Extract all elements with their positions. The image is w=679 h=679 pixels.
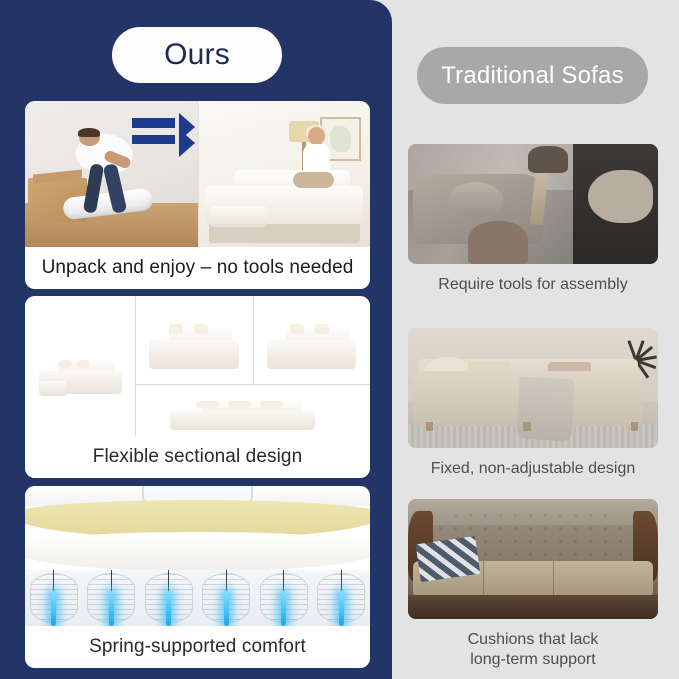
grid-divider-vertical xyxy=(253,296,254,384)
arrow-right-icon xyxy=(132,118,175,128)
supporting-hand xyxy=(468,221,528,264)
ours-card-spring: Spring-supported comfort xyxy=(25,486,370,668)
sofa-pillow xyxy=(77,360,90,368)
spring-coil xyxy=(313,570,371,626)
old-sofa-illustration xyxy=(408,499,658,619)
man-hair xyxy=(78,128,99,137)
sofa-leg xyxy=(426,422,434,432)
spring-glow-icon xyxy=(339,591,344,626)
ours-caption-flexible: Flexible sectional design xyxy=(25,436,370,478)
woman-legs xyxy=(293,172,334,187)
traditional-item-cushions: Cushions that lack long-term support xyxy=(408,499,658,670)
comparison-infographic: Ours xyxy=(0,0,679,679)
fixed-sofa-image xyxy=(408,328,658,448)
caption-line-2: long-term support xyxy=(470,651,595,668)
traditional-caption-assembly: Require tools for assembly xyxy=(408,275,658,295)
sofa-base xyxy=(149,340,239,368)
spring-coil xyxy=(198,570,256,626)
living-room-scene xyxy=(198,101,371,247)
spring-glow-icon xyxy=(109,591,114,626)
configuration-grid xyxy=(25,296,370,436)
fixed-sofa-illustration xyxy=(408,328,658,448)
old-sofa-image xyxy=(408,499,658,619)
spring-coil xyxy=(83,570,141,626)
sofa-base xyxy=(170,411,315,430)
sofa-pillow xyxy=(228,401,251,408)
sofa-leg xyxy=(523,422,531,432)
unpack-and-enjoy-image xyxy=(25,101,370,247)
traditional-panel: Traditional Sofas Require tools for asse… xyxy=(392,0,679,679)
hand-holding-tool xyxy=(528,146,568,172)
config-long-sofa xyxy=(170,388,315,430)
traditional-item-assembly: Require tools for assembly xyxy=(408,144,658,295)
spring-glow-icon xyxy=(281,591,286,626)
ours-card-flexible: Flexible sectional design xyxy=(25,296,370,478)
spring-coil xyxy=(140,570,198,626)
unboxing-scene xyxy=(25,101,198,247)
sofa-ottoman xyxy=(209,206,269,228)
sofa-pillow xyxy=(194,324,208,334)
flexible-sectional-image xyxy=(25,296,370,436)
sofa-pillow xyxy=(169,324,183,334)
spring-comfort-image xyxy=(25,486,370,626)
ours-heading-pill: Ours xyxy=(112,27,282,83)
traditional-heading-pill: Traditional Sofas xyxy=(417,47,648,104)
sofa-pillow xyxy=(290,324,304,334)
woman-figure xyxy=(298,127,336,191)
sofa-leg xyxy=(631,422,639,432)
spring-coil xyxy=(25,570,83,626)
spring-glow-icon xyxy=(224,591,229,626)
sofa-pillow xyxy=(260,401,283,408)
caption-line-1: Cushions that lack xyxy=(468,631,599,648)
sofa-chaise xyxy=(39,381,67,396)
sofa-pillow xyxy=(315,324,329,334)
worker-arm xyxy=(588,170,653,223)
white-foam-layer xyxy=(25,532,370,571)
sofa-skirt xyxy=(408,595,658,619)
sofa-pillow xyxy=(59,360,72,368)
traditional-caption-cushions: Cushions that lack long-term support xyxy=(408,630,658,670)
seat-seam xyxy=(553,561,554,597)
ours-card-unpack: Unpack and enjoy – no tools needed xyxy=(25,101,370,289)
cutaway-cross-section xyxy=(25,486,370,626)
sofa-base xyxy=(267,340,357,368)
spring-glow-icon xyxy=(51,591,56,626)
throw-blanket xyxy=(516,377,574,442)
woman-head xyxy=(308,127,325,145)
ours-panel: Ours xyxy=(0,0,392,679)
config-l-shape xyxy=(39,344,122,394)
grid-divider-horizontal xyxy=(135,384,370,385)
arrow-right-icon xyxy=(132,135,175,145)
plant-leaf xyxy=(627,341,637,362)
ours-caption-spring: Spring-supported comfort xyxy=(25,626,370,668)
sofa-pillow xyxy=(196,401,219,408)
transition-arrows xyxy=(132,116,191,160)
config-u-shape xyxy=(267,307,357,369)
spring-layer xyxy=(25,570,370,626)
assembly-image xyxy=(408,144,658,264)
white-sectional-sofa xyxy=(205,159,363,223)
spring-coil xyxy=(255,570,313,626)
seat-seam xyxy=(483,561,484,597)
ours-heading-label: Ours xyxy=(164,38,230,72)
unpack-illustration xyxy=(25,101,370,247)
spring-glow-icon xyxy=(166,591,171,626)
config-daybed xyxy=(149,307,239,369)
traditional-item-fixed: Fixed, non-adjustable design xyxy=(408,328,658,479)
assembly-illustration xyxy=(408,144,658,264)
man-leg-left xyxy=(83,163,105,214)
traditional-caption-fixed: Fixed, non-adjustable design xyxy=(408,459,658,479)
grid-divider-vertical xyxy=(135,296,136,436)
traditional-heading-label: Traditional Sofas xyxy=(441,62,624,90)
ours-caption-unpack: Unpack and enjoy – no tools needed xyxy=(25,247,370,289)
